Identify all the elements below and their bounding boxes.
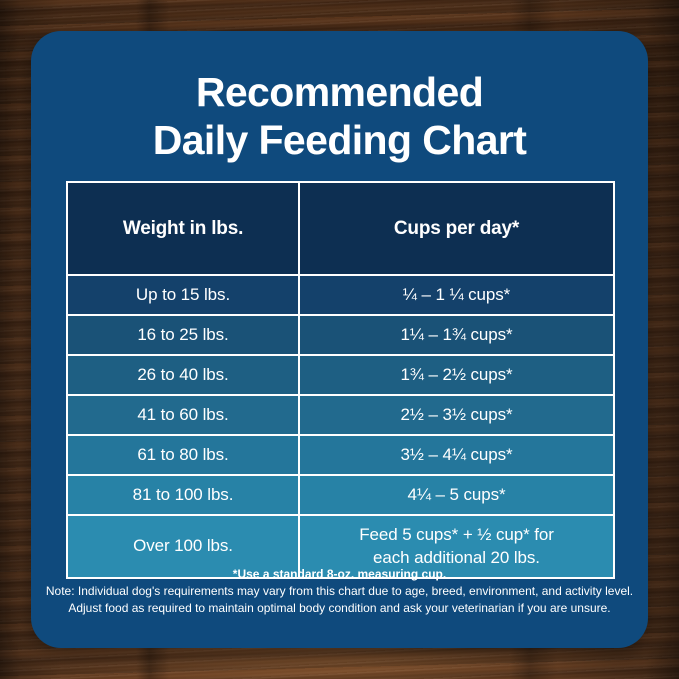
page-title: Recommended Daily Feeding Chart [31,69,648,165]
cell-cups: 3½ – 4¼ cups* [299,435,614,475]
table-body: Up to 15 lbs. ¼ – 1 ¼ cups* 16 to 25 lbs… [67,275,614,578]
footnote-block: *Use a standard 8-oz. measuring cup. Not… [31,567,648,618]
table-row: Up to 15 lbs. ¼ – 1 ¼ cups* [67,275,614,315]
table-row: 81 to 100 lbs. 4¼ – 5 cups* [67,475,614,515]
cell-weight: 26 to 40 lbs. [67,355,299,395]
cell-weight: 81 to 100 lbs. [67,475,299,515]
cell-weight: Up to 15 lbs. [67,275,299,315]
footnote-line-2: Adjust food as required to maintain opti… [31,600,648,617]
column-header-weight: Weight in lbs. [67,182,299,275]
cell-cups: 4¼ – 5 cups* [299,475,614,515]
cell-weight: 41 to 60 lbs. [67,395,299,435]
cell-cups: 2½ – 3½ cups* [299,395,614,435]
table-row: 41 to 60 lbs. 2½ – 3½ cups* [67,395,614,435]
table-row: 26 to 40 lbs. 1¾ – 2½ cups* [67,355,614,395]
table-row: 16 to 25 lbs. 1¼ – 1¾ cups* [67,315,614,355]
feeding-table: Weight in lbs. Cups per day* Up to 15 lb… [66,181,615,579]
footnote-line-1: Note: Individual dog's requirements may … [31,583,648,600]
cell-weight: 16 to 25 lbs. [67,315,299,355]
cell-weight: 61 to 80 lbs. [67,435,299,475]
cell-cups: 1¼ – 1¾ cups* [299,315,614,355]
table-row: 61 to 80 lbs. 3½ – 4¼ cups* [67,435,614,475]
column-header-cups: Cups per day* [299,182,614,275]
title-line-2: Daily Feeding Chart [31,117,648,165]
table-header-row: Weight in lbs. Cups per day* [67,182,614,275]
cell-cups-line-1: Feed 5 cups* + ½ cup* for [304,523,609,546]
feeding-chart-card: Recommended Daily Feeding Chart Weight i… [31,31,648,648]
footnote-measuring-cup-note: *Use a standard 8-oz. measuring cup. [31,567,648,581]
cell-cups: 1¾ – 2½ cups* [299,355,614,395]
title-line-1: Recommended [31,69,648,117]
cell-cups: ¼ – 1 ¼ cups* [299,275,614,315]
